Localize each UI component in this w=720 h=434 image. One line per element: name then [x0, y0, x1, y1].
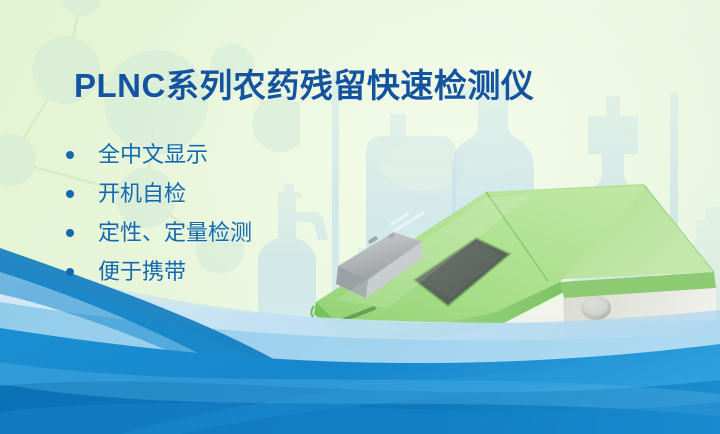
bullet-dot-icon	[66, 229, 74, 237]
page-title: PLNC系列农药残留快速检测仪	[74, 59, 534, 107]
feature-label: 全中文显示	[98, 142, 208, 167]
feature-list: 全中文显示 开机自检 定性、定量检测 便于携带	[62, 135, 252, 291]
bullet-dot-icon	[66, 268, 74, 276]
list-item: 定性、定量检测	[62, 213, 252, 252]
promo-banner: PLNC系列农药残留快速检测仪 全中文显示 开机自检 定性、定量检测 便于携带	[0, 0, 720, 434]
list-item: 全中文显示	[62, 135, 252, 174]
bullet-dot-icon	[66, 190, 74, 198]
bullet-dot-icon	[66, 151, 74, 159]
list-item: 便于携带	[62, 252, 252, 291]
feature-label: 便于携带	[98, 259, 186, 284]
list-item: 开机自检	[62, 174, 252, 213]
feature-label: 定性、定量检测	[98, 220, 252, 245]
feature-label: 开机自检	[98, 181, 186, 206]
